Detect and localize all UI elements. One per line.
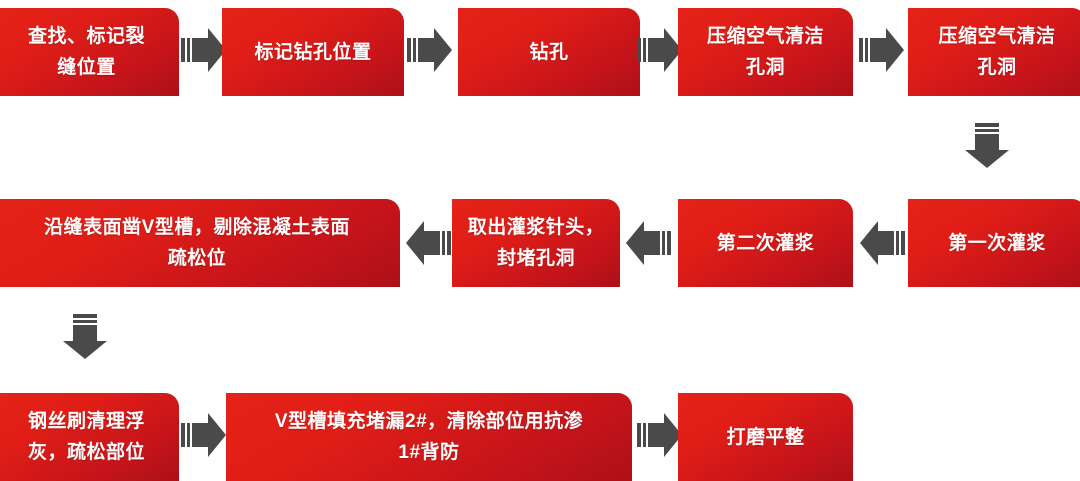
flow-node-find-mark-crack[interactable]: 查找、标记裂 缝位置: [0, 8, 179, 96]
flow-node-label: 第一次灌浆: [914, 228, 1080, 259]
flow-node-label: 沿缝表面凿V型槽，剔除混凝土表面 疏松位: [0, 212, 394, 274]
arrow-left-icon: [858, 218, 906, 268]
flow-node-label: 标记钻孔位置: [228, 37, 398, 68]
arrow-left-icon: [624, 218, 672, 268]
flow-node-mark-drill-position[interactable]: 标记钻孔位置: [222, 8, 404, 96]
flow-node-compressed-air-clean-2[interactable]: 压缩空气清洁 孔洞: [908, 8, 1080, 96]
flow-node-label: V型槽填充堵漏2#，清除部位用抗渗 1#背防: [232, 406, 626, 468]
flow-node-label: 打磨平整: [684, 422, 847, 453]
arrow-right-icon: [636, 410, 684, 460]
flow-node-label: 压缩空气清洁 孔洞: [914, 21, 1080, 83]
flow-node-label: 压缩空气清洁 孔洞: [684, 21, 847, 83]
flow-node-label: 钢丝刷清理浮 灰，疏松部位: [0, 406, 173, 468]
arrow-right-icon: [406, 25, 454, 75]
arrow-right-icon: [858, 25, 906, 75]
flow-node-label: 第二次灌浆: [684, 228, 847, 259]
arrow-down-icon: [962, 122, 1012, 170]
arrow-right-icon: [180, 410, 228, 460]
flow-node-wire-brush-clean[interactable]: 钢丝刷清理浮 灰，疏松部位: [0, 393, 179, 481]
flow-node-drill-hole[interactable]: 钻孔: [458, 8, 640, 96]
flow-node-compressed-air-clean-1[interactable]: 压缩空气清洁 孔洞: [678, 8, 853, 96]
arrow-left-icon: [404, 218, 452, 268]
flow-node-first-grouting[interactable]: 第一次灌浆: [908, 199, 1080, 287]
flow-node-label: 钻孔: [464, 37, 634, 68]
process-flowchart: 查找、标记裂 缝位置 标记钻孔位置 钻孔 压缩空气清洁 孔洞: [0, 0, 1080, 479]
arrow-right-icon: [180, 25, 228, 75]
flow-node-remove-needle-seal-hole[interactable]: 取出灌浆针头， 封堵孔洞: [452, 199, 620, 287]
arrow-down-icon: [60, 313, 110, 361]
arrow-right-icon: [636, 25, 684, 75]
flow-node-second-grouting[interactable]: 第二次灌浆: [678, 199, 853, 287]
flow-node-grind-flat[interactable]: 打磨平整: [678, 393, 853, 481]
flow-node-fill-v-groove[interactable]: V型槽填充堵漏2#，清除部位用抗渗 1#背防: [226, 393, 632, 481]
flow-node-cut-v-groove[interactable]: 沿缝表面凿V型槽，剔除混凝土表面 疏松位: [0, 199, 400, 287]
flow-node-label: 取出灌浆针头， 封堵孔洞: [458, 212, 614, 274]
flow-node-label: 查找、标记裂 缝位置: [0, 21, 173, 83]
